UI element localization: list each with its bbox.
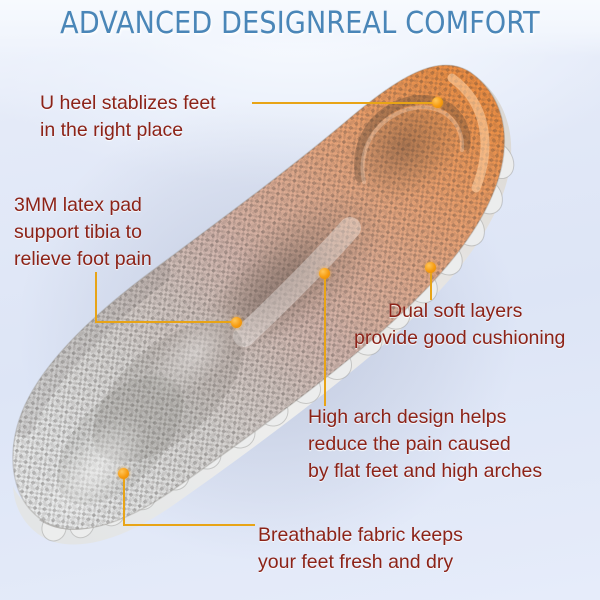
infographic-canvas: ADVANCED DESIGNREAL COMFORT [0,0,600,600]
leader-line-latex-pad-horizontal [95,321,241,323]
callout-dual-layers-line-1: Dual soft layers [388,298,565,325]
callout-latex-pad: 3MM latex pad support tibia to relieve f… [14,192,152,273]
callout-high-arch-line-1: High arch design helps [308,404,542,431]
leader-line-high-arch [324,276,326,406]
callout-latex-pad-line-1: 3MM latex pad [14,192,152,219]
leader-line-breathable-horizontal [123,524,255,526]
callout-high-arch-line-2: reduce the pain caused [308,431,542,458]
marker-dot-u-heel [432,97,443,108]
leader-line-dual-layers [430,272,432,300]
callout-breathable-line-1: Breathable fabric keeps [258,522,463,549]
marker-dot-latex-pad [231,317,242,328]
marker-dot-high-arch [319,268,330,279]
callout-dual-layers-line-2: provide good cushioning [354,325,565,352]
leader-line-u-heel [252,102,437,104]
callout-high-arch: High arch design helps reduce the pain c… [308,404,542,485]
callout-high-arch-line-3: by flat feet and high arches [308,458,542,485]
callout-breathable-line-2: your feet fresh and dry [258,549,463,576]
callout-latex-pad-line-3: relieve foot pain [14,246,152,273]
leader-line-latex-pad-vertical [95,272,97,322]
marker-dot-breathable [118,468,129,479]
callout-breathable: Breathable fabric keeps your feet fresh … [258,522,463,576]
callout-u-heel: U heel stablizes feet in the right place [40,90,216,144]
marker-dot-dual-layers [425,262,436,273]
callout-dual-layers: Dual soft layers provide good cushioning [388,298,565,352]
leader-line-breathable-vertical [123,474,125,526]
callout-u-heel-line-2: in the right place [40,117,216,144]
callout-u-heel-line-1: U heel stablizes feet [40,90,216,117]
callout-latex-pad-line-2: support tibia to [14,219,152,246]
